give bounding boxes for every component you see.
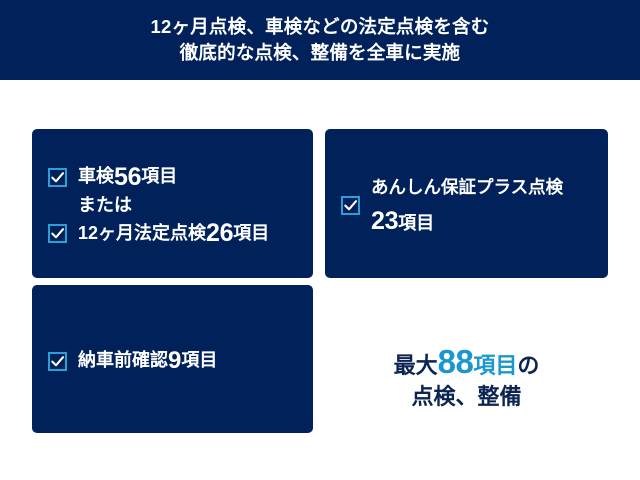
summary-unit: 項目 bbox=[473, 353, 517, 378]
summary-particle: の bbox=[517, 353, 539, 378]
inspection-row-or: または bbox=[48, 194, 299, 218]
card-warranty-content: あんしん保証プラス点検 23項目 bbox=[341, 151, 594, 260]
summary-prefix: 最大 bbox=[394, 353, 438, 378]
warranty-suffix: 項目 bbox=[398, 213, 434, 233]
warranty-text-block: あんしん保証プラス点検 23項目 bbox=[371, 176, 563, 236]
summary-line-1: 最大88項目の bbox=[394, 341, 540, 383]
summary-line-2: 点検、整備 bbox=[411, 383, 521, 411]
inspection-row-12month: 12ヶ月法定点検 26 項目 bbox=[48, 221, 299, 246]
inspection-shaken-label: 車検 bbox=[78, 165, 114, 189]
checkbox-checked-icon bbox=[48, 224, 67, 243]
inspection-or-label: または bbox=[78, 194, 132, 218]
checkbox-checked-icon bbox=[341, 196, 360, 215]
predelivery-number: 9 bbox=[168, 349, 181, 373]
card-warranty: あんしん保証プラス点検 23項目 bbox=[325, 129, 608, 278]
warranty-title: あんしん保証プラス点検 bbox=[371, 176, 563, 199]
card-inspection-content: 車検 56 項目 または 12ヶ月法定点検 26 項目 bbox=[48, 151, 299, 260]
card-predelivery: 納車前確認 9 項目 bbox=[32, 285, 313, 433]
checkbox-checked-icon bbox=[48, 168, 67, 187]
checkbox-checked-icon bbox=[48, 352, 67, 371]
header-line-2: 徹底的な点検、整備を全車に実施 bbox=[180, 40, 461, 66]
header-banner: 12ヶ月点検、車検などの法定点検を含む 徹底的な点検、整備を全車に実施 bbox=[0, 0, 640, 80]
card-inspection: 車検 56 項目 または 12ヶ月法定点検 26 項目 bbox=[32, 129, 313, 278]
warranty-number: 23 bbox=[371, 207, 398, 235]
inspection-12month-number: 26 bbox=[206, 221, 233, 246]
warranty-count-row: 23項目 bbox=[371, 209, 563, 236]
card-predelivery-content: 納車前確認 9 項目 bbox=[48, 307, 299, 415]
predelivery-label: 納車前確認 bbox=[78, 349, 168, 373]
inspection-shaken-suffix: 項目 bbox=[141, 165, 177, 189]
summary-number: 88 bbox=[438, 343, 474, 380]
inspection-12month-label: 12ヶ月法定点検 bbox=[78, 222, 206, 246]
header-line-1: 12ヶ月点検、車検などの法定点検を含む bbox=[151, 14, 490, 40]
inspection-row-shaken: 車検 56 項目 bbox=[48, 165, 299, 190]
summary-subtitle: 点検、整備 bbox=[411, 384, 521, 409]
inspection-shaken-number: 56 bbox=[114, 165, 141, 190]
predelivery-suffix: 項目 bbox=[181, 349, 217, 373]
summary-total: 最大88項目の 点検、整備 bbox=[325, 322, 608, 430]
inspection-12month-suffix: 項目 bbox=[233, 222, 269, 246]
